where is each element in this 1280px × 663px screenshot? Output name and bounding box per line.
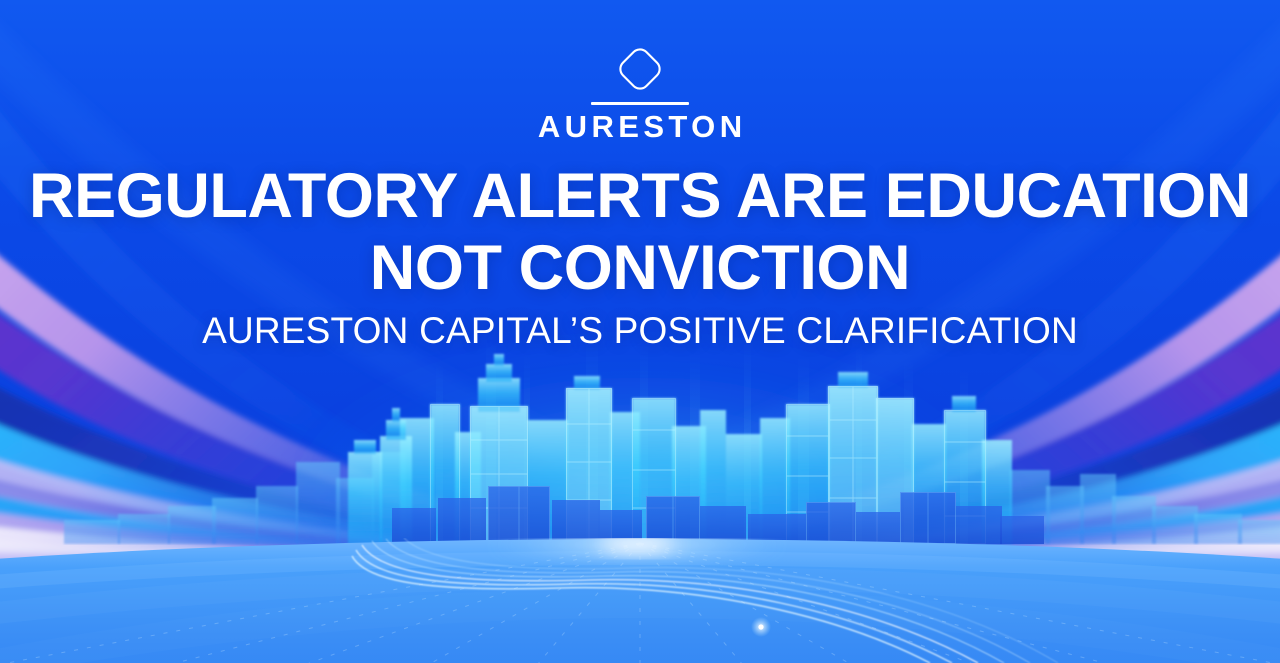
headline: REGULATORY ALERTS ARE EDUCATION NOT CONV…: [0, 160, 1280, 304]
brand-wordmark: AURESTON: [0, 111, 1280, 142]
headline-line-1: REGULATORY ALERTS ARE EDUCATION: [0, 160, 1280, 232]
headline-line-2: NOT CONVICTION: [0, 232, 1280, 304]
rounded-diamond-icon: [609, 38, 671, 100]
subtitle: AURESTON CAPITAL’S POSITIVE CLARIFICATIO…: [0, 308, 1280, 354]
announcement-banner: AURESTON REGULATORY ALERTS ARE EDUCATION…: [0, 0, 1280, 663]
brand-logo[interactable]: AURESTON: [0, 38, 1280, 142]
logo-underline: [591, 102, 689, 105]
